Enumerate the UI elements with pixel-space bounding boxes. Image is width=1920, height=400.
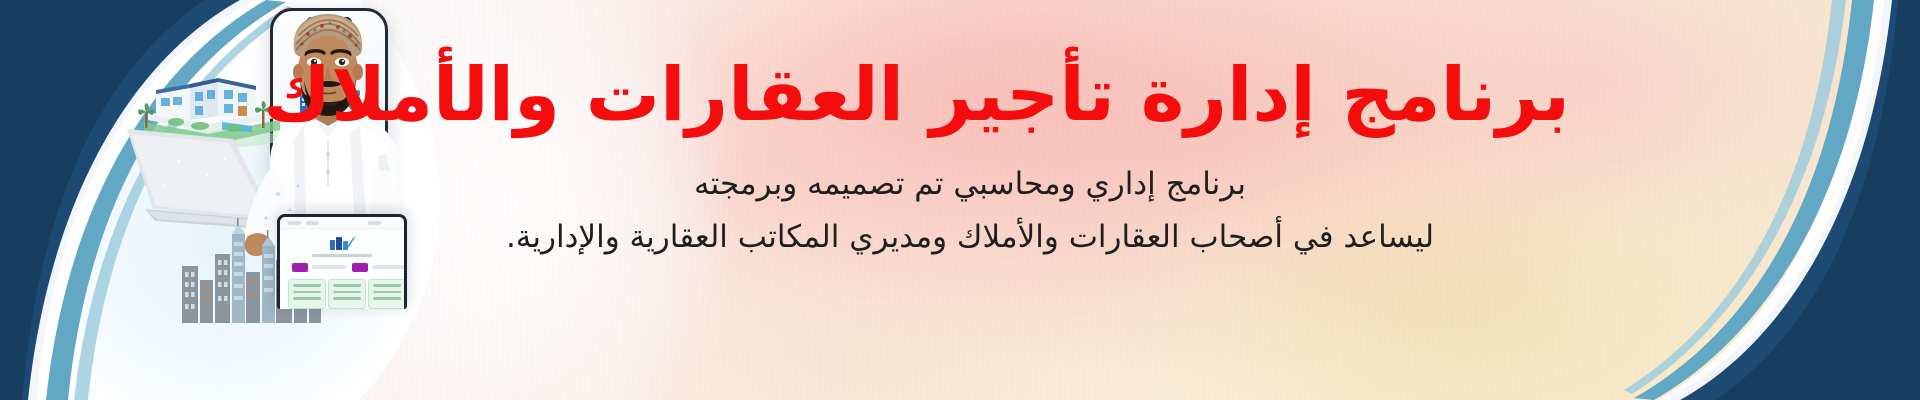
- dashboard-subtitle: [312, 254, 372, 257]
- promotional-banner: برنامج إدارة تأجير العقارات والأملاك برن…: [0, 0, 1920, 400]
- dashboard-card[interactable]: [328, 279, 366, 309]
- banner-subtitle-line-1: برنامج إداري ومحاسبي تم تصميمه وبرمجته: [370, 160, 1570, 209]
- dashboard-action-button[interactable]: [352, 263, 368, 272]
- dashboard-field: [312, 265, 346, 269]
- dashboard-nav-item: [306, 221, 319, 225]
- banner-subtitle: برنامج إداري ومحاسبي تم تصميمه وبرمجته ل…: [370, 160, 1570, 262]
- dashboard-nav-item: [288, 221, 301, 225]
- dashboard-card[interactable]: [288, 279, 326, 309]
- dashboard-field: [372, 265, 406, 269]
- dashboard-action-button[interactable]: [292, 263, 308, 272]
- banner-headline: برنامج إدارة تأجير العقارات والأملاك: [370, 56, 1570, 134]
- dashboard-card[interactable]: [368, 279, 406, 309]
- dashboard-logo-icon: [329, 235, 355, 251]
- banner-subtitle-line-2: ليساعد في أصحاب العقارات والأملاك ومديري…: [370, 213, 1570, 262]
- banner-copy: برنامج إدارة تأجير العقارات والأملاك برن…: [370, 56, 1570, 262]
